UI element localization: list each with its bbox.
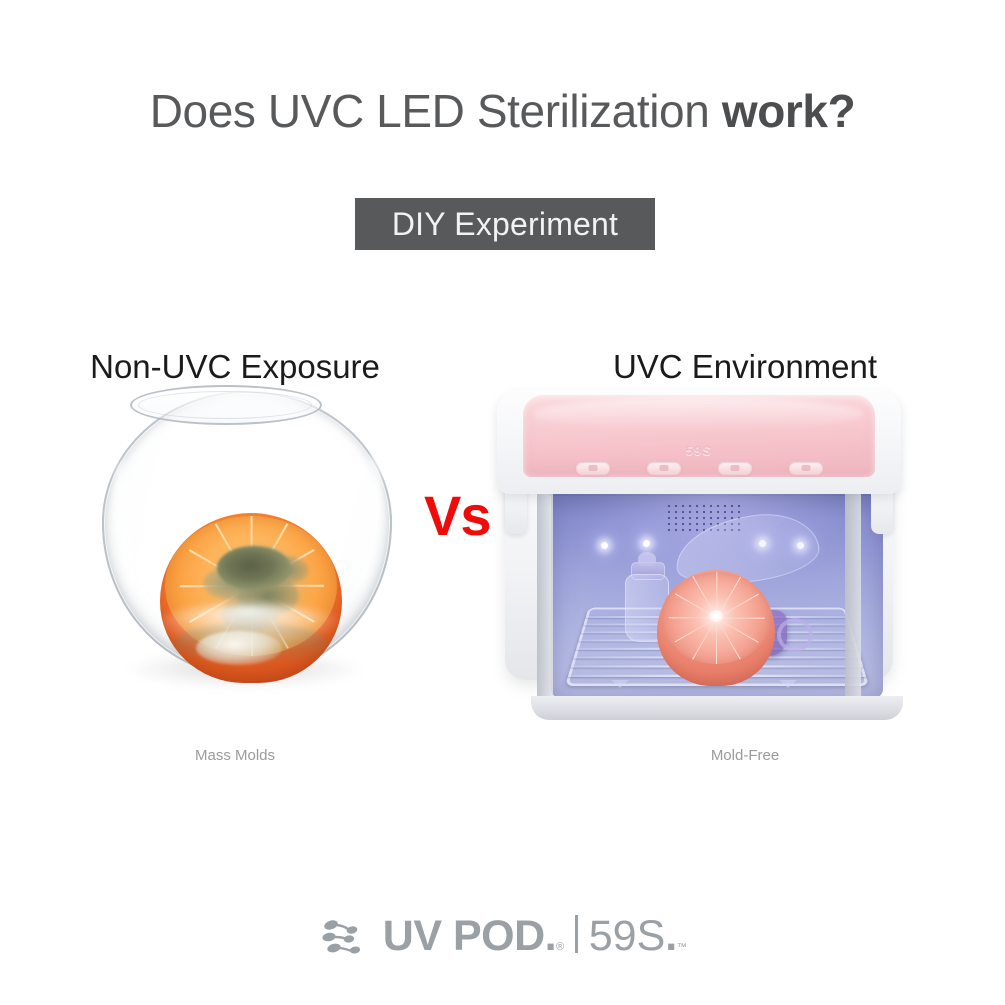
uv-led xyxy=(643,540,650,547)
accessory-ring xyxy=(777,618,813,652)
germ-icon xyxy=(319,917,371,957)
fishbowl-rim-inner xyxy=(138,391,312,419)
non-uvc-exposure-image xyxy=(78,385,408,725)
chamber-pillar-right xyxy=(845,488,861,700)
sterilizer-chamber xyxy=(551,490,883,698)
drain-arrow-icon xyxy=(611,680,629,688)
timer-button[interactable] xyxy=(789,462,823,475)
pink-lid-surface: 59S xyxy=(523,395,875,477)
footer-logo: UV POD.® 59S.™ xyxy=(0,912,1005,961)
sterilizer-lid[interactable]: 59S xyxy=(497,390,901,494)
logo-divider xyxy=(575,915,578,953)
right-section-heading: UVC Environment xyxy=(540,348,950,386)
poster-canvas: Does UVC LED Sterilization work? DIY Exp… xyxy=(0,0,1005,1005)
page-title: Does UVC LED Sterilization work? xyxy=(0,82,1005,140)
uv-led xyxy=(601,542,608,549)
base-lip xyxy=(531,696,903,720)
uvc-environment-image: 59S xyxy=(487,390,912,720)
logo-model-period: . xyxy=(665,912,676,961)
left-caption: Mass Molds xyxy=(30,747,440,764)
glass-highlight-spot xyxy=(159,422,210,460)
control-panel xyxy=(523,457,875,477)
page-title-light: Does UVC LED Sterilization xyxy=(150,85,722,137)
logo-model: 59S xyxy=(589,912,666,961)
logo-brand-period: . xyxy=(545,912,556,961)
left-section-heading: Non-UVC Exposure xyxy=(30,348,440,386)
glass-highlight-left xyxy=(110,460,147,590)
trademark-mark: ™ xyxy=(677,942,687,953)
drain-arrow-icon xyxy=(779,680,797,688)
lid-gloss xyxy=(533,397,863,431)
sterilize-button[interactable] xyxy=(647,462,681,475)
diy-experiment-badge-label: DIY Experiment xyxy=(392,206,618,243)
logo-brand: UV POD xyxy=(383,912,545,961)
registered-mark: ® xyxy=(556,941,564,953)
fresh-grapefruit xyxy=(657,570,775,686)
dry-button[interactable] xyxy=(718,462,752,475)
logo-wordmark: UV POD.® 59S.™ xyxy=(383,912,686,961)
mold-core xyxy=(217,546,291,590)
versus-label: Vs xyxy=(424,488,491,544)
page-title-bold: work? xyxy=(722,85,855,137)
power-button[interactable] xyxy=(576,462,610,475)
diy-experiment-badge: DIY Experiment xyxy=(355,198,655,250)
fruit-core-highlight xyxy=(709,610,723,622)
white-mold-bloom xyxy=(196,631,282,665)
right-caption: Mold-Free xyxy=(540,747,950,764)
glass-highlight-right xyxy=(346,452,387,594)
chamber-pillar-left xyxy=(537,488,553,700)
glass-fishbowl xyxy=(102,391,392,677)
moldy-grapefruit xyxy=(160,513,342,683)
lid-brand-emboss: 59S xyxy=(523,443,875,458)
fresh-grapefruit-flesh xyxy=(661,572,771,664)
